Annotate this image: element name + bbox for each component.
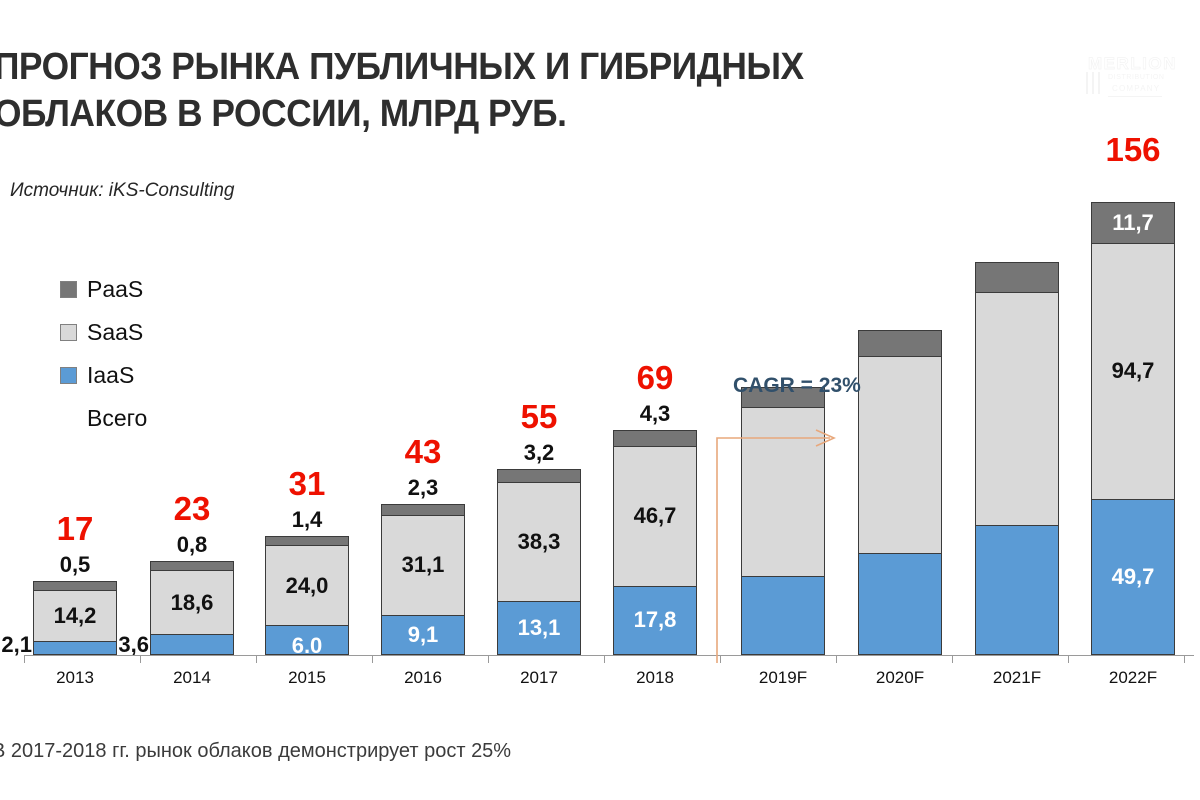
bar-label-iaas: 6.0 bbox=[292, 635, 323, 657]
bar-stack: 0,818,63,6 bbox=[150, 561, 234, 655]
bar-segment-saas[interactable]: 31,1 bbox=[382, 516, 464, 616]
bar-segment-iaas[interactable] bbox=[859, 554, 941, 654]
bar-label-iaas: 17,8 bbox=[634, 609, 677, 631]
bar-label-saas: 24,0 bbox=[286, 575, 329, 597]
bar-label-saas: 14,2 bbox=[54, 605, 97, 627]
bar-label-saas: 38,3 bbox=[518, 531, 561, 553]
x-axis-label-2017: 2017 bbox=[479, 668, 599, 688]
bar-segment-iaas[interactable]: 3,6 bbox=[151, 635, 233, 654]
x-axis-tick bbox=[140, 656, 141, 663]
logo-subtitle-2: COMPANY bbox=[1112, 84, 1160, 93]
x-axis-tick bbox=[1068, 656, 1069, 663]
bar-stack bbox=[975, 262, 1059, 655]
x-axis-tick bbox=[256, 656, 257, 663]
bar-label-iaas: 9,1 bbox=[408, 624, 439, 646]
x-axis-line bbox=[24, 655, 1194, 656]
bar-total-label: 23 bbox=[150, 490, 234, 528]
bar-label-saas: 31,1 bbox=[402, 554, 445, 576]
bar-total-label: 31 bbox=[265, 465, 349, 503]
page-title: ПРОГНОЗ РЫНКА ПУБЛИЧНЫХ И ГИБРИДНЫХ ОБЛА… bbox=[0, 44, 943, 138]
bar-segment-paas[interactable]: 3,2 bbox=[498, 470, 580, 483]
bar-total-label: 69 bbox=[613, 359, 697, 397]
bar-segment-paas[interactable]: 0,8 bbox=[151, 562, 233, 571]
bar-stack: 3,238,313,1 bbox=[497, 469, 581, 655]
bar-segment-saas[interactable] bbox=[976, 293, 1058, 526]
bar-segment-iaas[interactable]: 6.0 bbox=[266, 626, 348, 654]
x-axis-tick bbox=[604, 656, 605, 663]
bar-segment-iaas[interactable] bbox=[976, 526, 1058, 654]
bar-segment-paas[interactable]: 11,7 bbox=[1092, 203, 1174, 244]
bar-segment-iaas[interactable]: 9,1 bbox=[382, 616, 464, 654]
bar-group-2015[interactable]: 1,424,06.031 bbox=[265, 150, 349, 656]
x-axis-label-2021f: 2021F bbox=[957, 668, 1077, 688]
x-axis-label-2018: 2018 bbox=[595, 668, 715, 688]
bar-segment-paas[interactable]: 2,3 bbox=[382, 505, 464, 516]
bar-segment-saas[interactable]: 38,3 bbox=[498, 483, 580, 602]
cagr-arrow-icon bbox=[712, 428, 847, 668]
bar-label-saas: 18,6 bbox=[171, 592, 214, 614]
bar-stack: 1,424,06.0 bbox=[265, 536, 349, 655]
bar-stack: 4,346,717,8 bbox=[613, 430, 697, 655]
x-axis-label-2013: 2013 bbox=[15, 668, 135, 688]
bar-segment-saas[interactable]: 94,7 bbox=[1092, 244, 1174, 500]
bar-group-2016[interactable]: 2,331,19,143 bbox=[381, 150, 465, 656]
x-axis-tick bbox=[24, 656, 25, 663]
bar-group-2020f[interactable] bbox=[858, 150, 942, 656]
bar-label-iaas: 13,1 bbox=[518, 617, 561, 639]
bar-label-saas: 94,7 bbox=[1112, 360, 1155, 382]
x-axis-label-2022f: 2022F bbox=[1073, 668, 1193, 688]
logo-wordmark: MERLION bbox=[1088, 54, 1177, 74]
bar-total-label: 156 bbox=[1091, 131, 1175, 169]
bar-segment-saas[interactable]: 18,6 bbox=[151, 571, 233, 636]
bar-label-paas: 0,5 bbox=[34, 552, 116, 578]
bar-segment-saas[interactable]: 14,2 bbox=[34, 591, 116, 643]
bar-label-paas: 2,3 bbox=[382, 475, 464, 501]
x-axis-label-2020f: 2020F bbox=[840, 668, 960, 688]
cagr-annotation-label: CAGR = 23% bbox=[733, 374, 861, 398]
bar-stack: 11,794,749,7 bbox=[1091, 202, 1175, 655]
bar-stack: 0,514,22,1 bbox=[33, 581, 117, 655]
bar-stack: 2,331,19,1 bbox=[381, 504, 465, 655]
bar-label-paas: 1,4 bbox=[266, 507, 348, 533]
bar-label-paas: 4,3 bbox=[614, 401, 696, 427]
x-axis-tick bbox=[372, 656, 373, 663]
bar-group-2022f[interactable]: 11,794,749,7156 bbox=[1091, 150, 1175, 656]
bar-segment-iaas[interactable]: 13,1 bbox=[498, 602, 580, 654]
bar-segment-saas[interactable]: 46,7 bbox=[614, 447, 696, 587]
x-axis-tick bbox=[952, 656, 953, 663]
bar-group-2018[interactable]: 4,346,717,869 bbox=[613, 150, 697, 656]
bar-label-paas: 3,2 bbox=[498, 440, 580, 466]
bar-segment-iaas[interactable]: 49,7 bbox=[1092, 500, 1174, 654]
bar-segment-paas[interactable]: 1,4 bbox=[266, 537, 348, 546]
bar-total-label: 55 bbox=[497, 398, 581, 436]
bar-label-paas: 11,7 bbox=[1112, 212, 1154, 234]
logo-rule bbox=[1108, 96, 1162, 97]
bar-stack bbox=[858, 330, 942, 655]
chart-plot-area: 0,514,22,1170,818,63,6231,424,06.0312,33… bbox=[0, 150, 1200, 656]
x-axis-tick bbox=[1184, 656, 1185, 663]
bar-segment-saas[interactable]: 24,0 bbox=[266, 546, 348, 627]
logo-subtitle-1: DISTRIBUTION bbox=[1108, 74, 1165, 81]
bar-segment-iaas[interactable]: 17,8 bbox=[614, 587, 696, 654]
merlion-logo: MERLION DISTRIBUTION COMPANY bbox=[1070, 52, 1178, 104]
bar-segment-paas[interactable]: 0,5 bbox=[34, 582, 116, 591]
bar-segment-paas[interactable]: 4,3 bbox=[614, 431, 696, 447]
x-axis-tick bbox=[488, 656, 489, 663]
bar-group-2017[interactable]: 3,238,313,155 bbox=[497, 150, 581, 656]
logo-bars-icon bbox=[1086, 72, 1104, 94]
bar-total-label: 43 bbox=[381, 433, 465, 471]
bar-label-saas: 46,7 bbox=[634, 505, 677, 527]
bar-group-2013[interactable]: 0,514,22,117 bbox=[33, 150, 117, 656]
x-axis-label-2016: 2016 bbox=[363, 668, 483, 688]
x-axis-labels: 2013201420152016201720182019F2020F2021F2… bbox=[0, 668, 1200, 694]
footer-note: В 2017-2018 гг. рынок облаков демонстрир… bbox=[0, 740, 511, 763]
bar-segment-saas[interactable] bbox=[859, 357, 941, 554]
bar-label-iaas: 49,7 bbox=[1112, 566, 1155, 588]
bar-label-paas: 0,8 bbox=[151, 532, 233, 558]
bar-group-2021f[interactable] bbox=[975, 150, 1059, 656]
bar-total-label: 17 bbox=[33, 510, 117, 548]
bar-segment-paas[interactable] bbox=[859, 331, 941, 357]
bar-segment-paas[interactable] bbox=[976, 263, 1058, 293]
bar-group-2014[interactable]: 0,818,63,623 bbox=[150, 150, 234, 656]
x-axis-label-2019f: 2019F bbox=[723, 668, 843, 688]
bar-segment-iaas[interactable]: 2,1 bbox=[34, 642, 116, 654]
x-axis-label-2014: 2014 bbox=[132, 668, 252, 688]
x-axis-label-2015: 2015 bbox=[247, 668, 367, 688]
